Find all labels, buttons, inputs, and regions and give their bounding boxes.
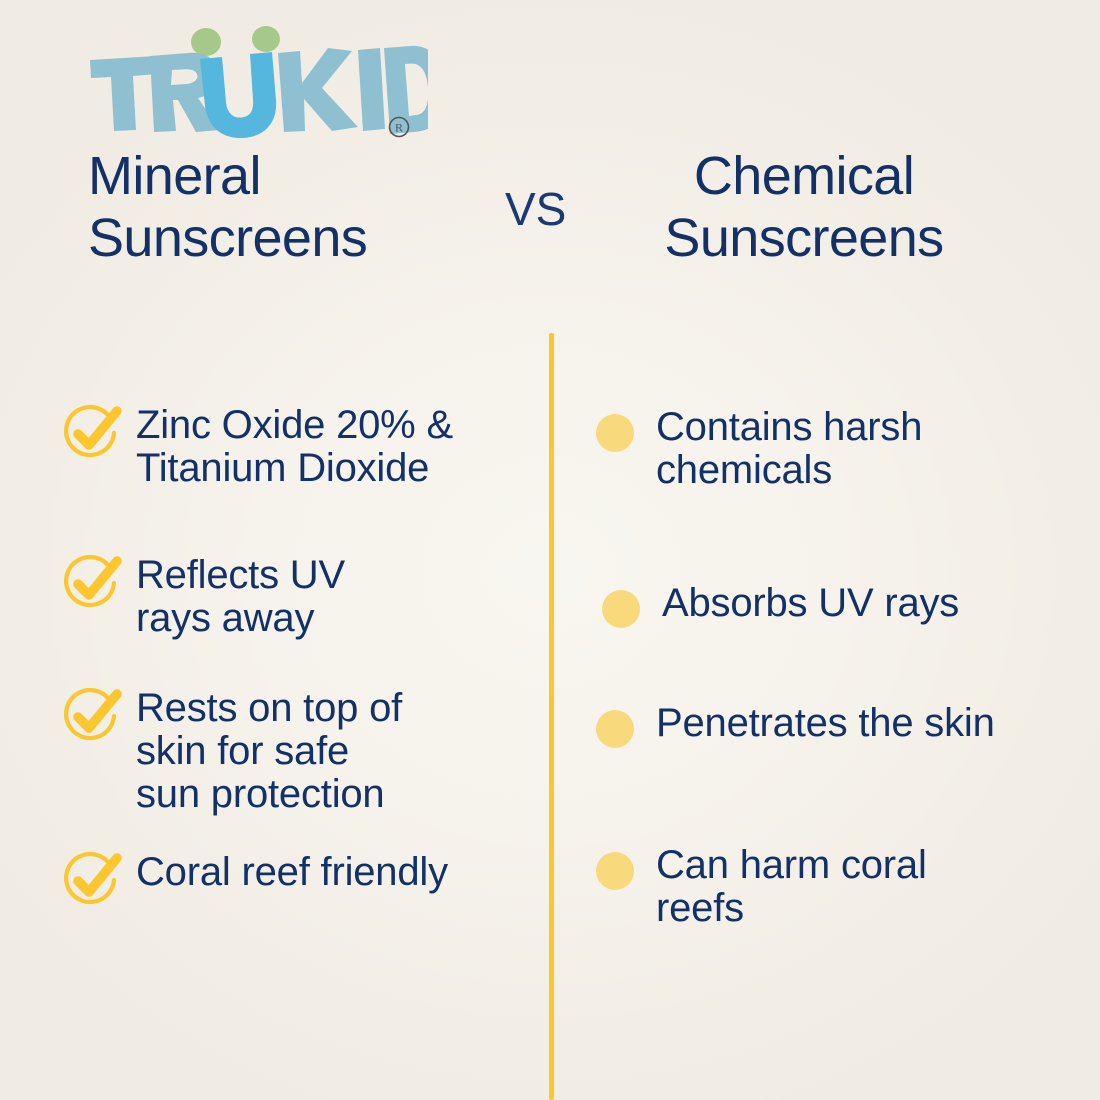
headings-row: Mineral Sunscreens VS Chemical Sunscreen… [0,146,1100,286]
list-item: Absorbs UV rays [602,578,959,628]
list-item-line2: skin for safe [136,730,402,773]
list-item-label: Contains harsh chemicals [656,402,922,492]
logo-letter-K [278,48,358,132]
list-item-label: Rests on top of skin for safe sun protec… [136,683,402,817]
list-item: Contains harsh chemicals [596,402,922,492]
list-item: Reflects UV rays away [62,550,345,640]
svg-text:R: R [395,121,403,135]
dot-bullet-icon [602,590,640,628]
umlaut-dot-right-icon [252,26,280,52]
heading-chemical-sunscreens: Chemical Sunscreens [584,146,1024,269]
list-item-label: Penetrates the skin [656,698,995,745]
heading-mineral-sunscreens: Mineral Sunscreens [88,146,508,269]
list-item-label: Zinc Oxide 20% & Titanium Dioxide [136,400,453,490]
list-item-line1: Rests on top of [136,687,402,730]
list-item-label: Absorbs UV rays [662,578,959,625]
heading-mineral-line2: Sunscreens [88,208,508,270]
logo-letter-I [358,48,385,131]
heading-chemical-line1: Chemical [584,146,1024,208]
check-circle-icon [62,552,122,612]
trukid-logo-svg: R [88,26,428,146]
list-item-line1: Reflects UV [136,554,345,597]
dot-bullet-icon [596,852,634,890]
list-item: Rests on top of skin for safe sun protec… [62,683,402,817]
list-item-line1: Penetrates the skin [656,702,995,745]
list-item-line2: chemicals [656,449,922,492]
check-circle-icon [62,849,122,909]
list-item-line2: Titanium Dioxide [136,447,453,490]
list-item-label: Coral reef friendly [136,847,448,894]
heading-mineral-line1: Mineral [88,146,508,208]
list-item-line1: Coral reef friendly [136,851,448,894]
dot-bullet-icon [596,710,634,748]
list-item-line3: sun protection [136,773,402,816]
dot-bullet-icon [596,414,634,452]
trukid-logo: R [88,26,428,146]
list-item-label: Can harm coral reefs [656,840,927,930]
list-item-line1: Can harm coral [656,844,927,887]
list-item: Penetrates the skin [596,698,995,748]
infographic-canvas: R Mineral Sunscreens VS Chemical Sunscre… [0,0,1100,1100]
list-item-line2: reefs [656,887,927,930]
list-item-line1: Contains harsh [656,406,922,449]
heading-chemical-line2: Sunscreens [584,208,1024,270]
list-item-line2: rays away [136,597,345,640]
list-item: Can harm coral reefs [596,840,927,930]
list-item-label: Reflects UV rays away [136,550,345,640]
umlaut-dot-left-icon [191,28,221,56]
logo-letter-T [90,56,157,131]
list-item: Zinc Oxide 20% & Titanium Dioxide [62,400,453,490]
column-divider [549,333,554,1100]
check-circle-icon [62,685,122,745]
check-circle-icon [62,402,122,462]
list-item-line1: Absorbs UV rays [662,582,959,625]
list-item: Coral reef friendly [62,847,448,909]
list-item-line1: Zinc Oxide 20% & [136,404,453,447]
